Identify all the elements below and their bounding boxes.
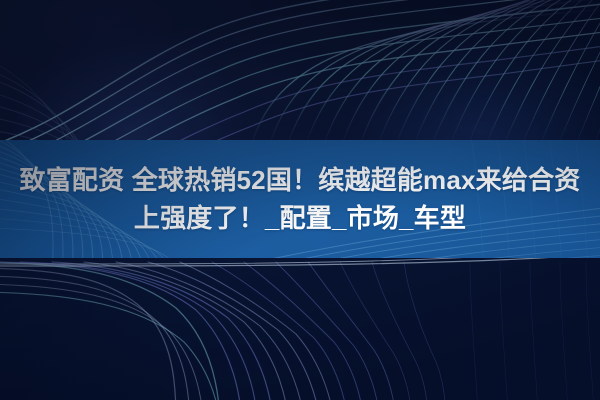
headline-text-block: 致富配资 全球热销52国！缤越超能max来给合资 上强度了！_配置_市场_车型 [0, 140, 600, 258]
headline-line-2: 上强度了！_配置_市场_车型 [134, 200, 466, 236]
cover-image: 致富配资 全球热销52国！缤越超能max来给合资 上强度了！_配置_市场_车型 [0, 0, 600, 400]
headline-line-1: 致富配资 全球热销52国！缤越超能max来给合资 [20, 162, 581, 198]
headline-banner: 致富配资 全球热销52国！缤越超能max来给合资 上强度了！_配置_市场_车型 [0, 140, 600, 258]
